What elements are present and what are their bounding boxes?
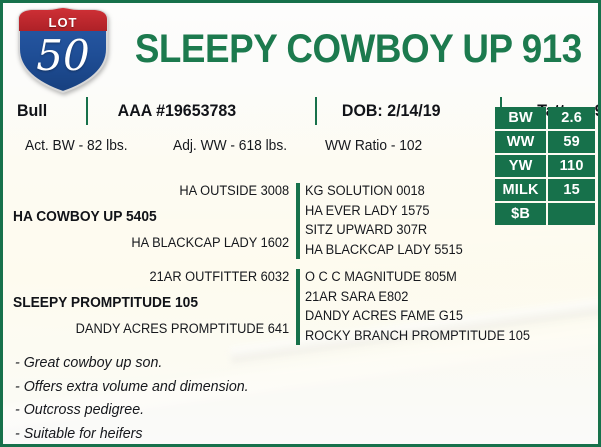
pedigree-ggp: O C C MAGNITUDE 805M (305, 267, 530, 287)
note-item: - Offers extra volume and dimension. (15, 375, 414, 399)
pedigree-sire-greatgrandparents: KG SOLUTION 0018 HA EVER LADY 1575 SITZ … (305, 181, 471, 259)
table-row: YW 110 (495, 155, 595, 177)
pedigree-dam-granddam: DANDY ACRES PROMPTITUDE 641 (25, 321, 293, 336)
note-item: - Outcross pedigree. (15, 398, 414, 422)
stat-weaning-weight-ratio: WW Ratio - 102 (325, 138, 422, 154)
pedigree-divider-sire (296, 183, 300, 259)
card-content: LOT 50 SLEEPY COWBOY UP 913 Bull AAA #19… (3, 3, 598, 444)
info-divider-1 (77, 97, 97, 125)
pedigree-ggp: HA BLACKCAP LADY 5515 (305, 240, 463, 260)
lot-card: LOT 50 SLEEPY COWBOY UP 913 Bull AAA #19… (0, 0, 601, 447)
shield-lot-number: 50 (11, 31, 115, 81)
pedigree-ggp: KG SOLUTION 0018 (305, 181, 463, 201)
notes-list: - Great cowboy up son. - Offers extra vo… (15, 351, 435, 445)
info-dob: DOB: 2/14/19 (325, 101, 483, 121)
epd-value: 59 (548, 131, 595, 153)
info-row-primary: Bull AAA #19653783 DOB: 2/14/19 Tattoo: … (17, 93, 487, 129)
info-sex: Bull (17, 101, 73, 121)
info-registration: AAA #19653783 (97, 101, 294, 121)
pedigree-dam-block: 21AR OUTFITTER 6032 SLEEPY PROMPTITUDE 1… (3, 269, 601, 345)
epd-label: BW (495, 107, 546, 129)
shield-lot-label: LOT (11, 15, 115, 30)
pedigree-sire-block: HA OUTSIDE 3008 HA COWBOY UP 5405 HA BLA… (3, 183, 601, 259)
page-title: SLEEPY COWBOY UP 913 (135, 27, 591, 71)
pedigree-sire-left: HA OUTSIDE 3008 HA COWBOY UP 5405 HA BLA… (11, 183, 293, 259)
pedigree: HA OUTSIDE 3008 HA COWBOY UP 5405 HA BLA… (3, 183, 601, 345)
pedigree-sire-name: HA COWBOY UP 5405 (13, 209, 157, 225)
pedigree-dam-left: 21AR OUTFITTER 6032 SLEEPY PROMPTITUDE 1… (11, 269, 293, 345)
epd-value: 2.6 (548, 107, 595, 129)
table-row: WW 59 (495, 131, 595, 153)
pedigree-dam-name: SLEEPY PROMPTITUDE 105 (13, 295, 198, 311)
stat-actual-birth-weight: Act. BW - 82 lbs. (25, 138, 166, 154)
pedigree-ggp: 21AR SARA E802 (305, 287, 530, 307)
pedigree-ggp: DANDY ACRES FAME G15 (305, 306, 530, 326)
pedigree-sire-grandsire: HA OUTSIDE 3008 (25, 183, 293, 198)
note-item: - Suitable for heifers (15, 422, 414, 446)
table-row: BW 2.6 (495, 107, 595, 129)
note-item: - Great cowboy up son. (15, 351, 414, 375)
epd-label: WW (495, 131, 546, 153)
pedigree-ggp: SITZ UPWARD 307R (305, 220, 463, 240)
pedigree-divider-dam (296, 269, 300, 345)
info-divider-2 (307, 97, 325, 125)
pedigree-dam-grandsire: 21AR OUTFITTER 6032 (25, 269, 293, 284)
pedigree-dam-greatgrandparents: O C C MAGNITUDE 805M 21AR SARA E802 DAND… (305, 267, 542, 345)
pedigree-sire-granddam: HA BLACKCAP LADY 1602 (25, 235, 293, 250)
interstate-shield-icon: LOT 50 (11, 7, 115, 93)
card-header: LOT 50 SLEEPY COWBOY UP 913 (3, 3, 598, 95)
epd-label: YW (495, 155, 546, 177)
epd-value: 110 (548, 155, 595, 177)
pedigree-ggp: ROCKY BRANCH PROMPTITUDE 105 (305, 326, 530, 346)
pedigree-ggp: HA EVER LADY 1575 (305, 201, 463, 221)
stat-adjusted-weaning-weight: Adj. WW - 618 lbs. (173, 138, 317, 154)
